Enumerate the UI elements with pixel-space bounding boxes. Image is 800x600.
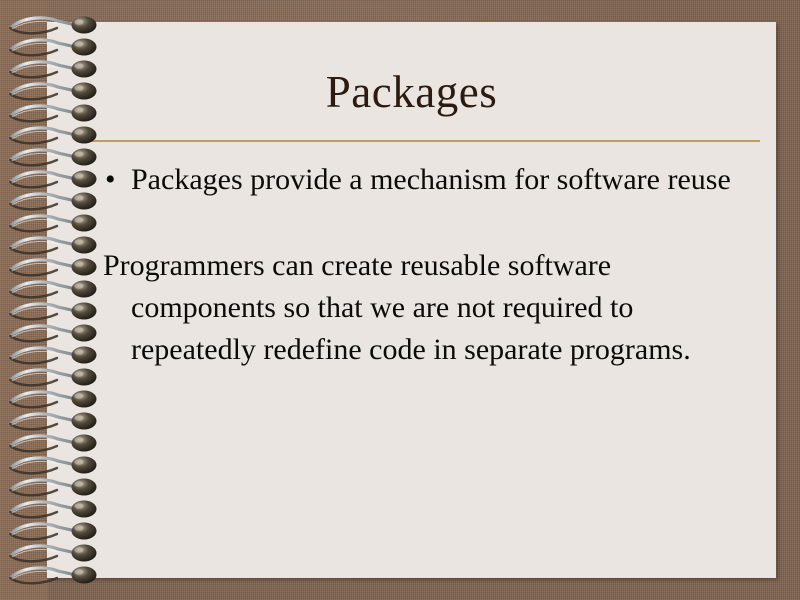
body-paragraph: Programmers can create reusable software…: [47, 245, 776, 371]
bullet-item: • Packages provide a mechanism for softw…: [47, 159, 776, 201]
notebook-page: Packages • Packages provide a mechanism …: [47, 22, 776, 578]
title-divider: [88, 140, 760, 142]
body-spacer: [47, 201, 776, 245]
presentation-slide: Packages • Packages provide a mechanism …: [0, 0, 800, 600]
slide-background-left-strip: [0, 0, 48, 600]
slide-body: • Packages provide a mechanism for softw…: [47, 159, 776, 371]
bullet-dot-icon: •: [105, 159, 116, 201]
bullet-item-text: Packages provide a mechanism for softwar…: [131, 163, 731, 196]
page-title: Packages: [47, 70, 776, 115]
